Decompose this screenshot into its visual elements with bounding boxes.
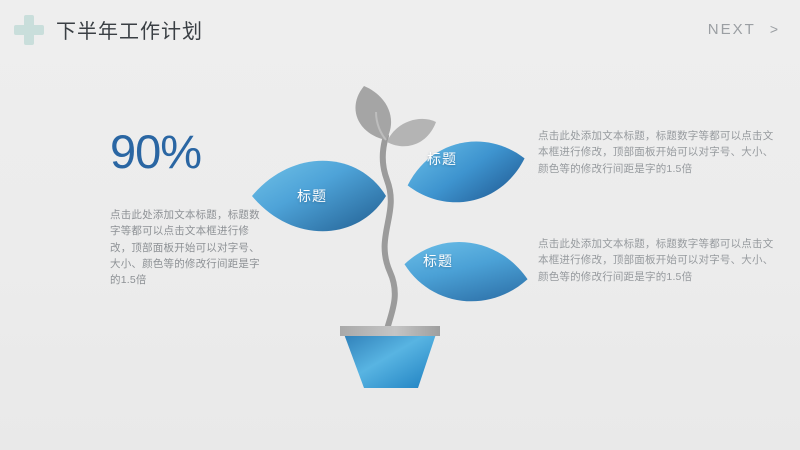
next-button[interactable]: NEXT > (708, 21, 778, 38)
percent-value: 90% (110, 128, 260, 175)
slide-header: 下半年工作计划 NEXT > (0, 0, 800, 58)
left-paragraph: 点击此处添加文本标题，标题数字等都可以点击文本框进行修改，顶部面板开始可以对字号… (110, 207, 260, 288)
leaf-shape-left[interactable] (252, 161, 386, 232)
left-content-block: 90% 点击此处添加文本标题，标题数字等都可以点击文本框进行修改，顶部面板开始可… (110, 128, 260, 288)
page-title: 下半年工作计划 (56, 15, 203, 44)
slide-canvas: 下半年工作计划 NEXT > 90% 点击此处添加文本标题，标题数字等都可以点击… (0, 0, 800, 450)
plant-illustration (240, 76, 540, 406)
sprout-leaves-icon (355, 86, 436, 146)
next-label: NEXT (708, 21, 756, 38)
right-paragraph-lower: 点击此处添加文本标题，标题数字等都可以点击文本框进行修改，顶部面板开始可以对字号… (538, 236, 778, 285)
plant-graphic: 标题 标题 标题 (240, 76, 540, 406)
flower-pot-icon (340, 326, 440, 388)
chevron-right-icon: > (770, 21, 778, 37)
right-paragraph-upper: 点击此处添加文本标题，标题数字等都可以点击文本框进行修改，顶部面板开始可以对字号… (538, 128, 778, 177)
leaf-shape-upper-right[interactable] (401, 130, 531, 214)
leaf-shape-lower-right[interactable] (401, 235, 531, 308)
plus-cross-icon (14, 15, 44, 45)
